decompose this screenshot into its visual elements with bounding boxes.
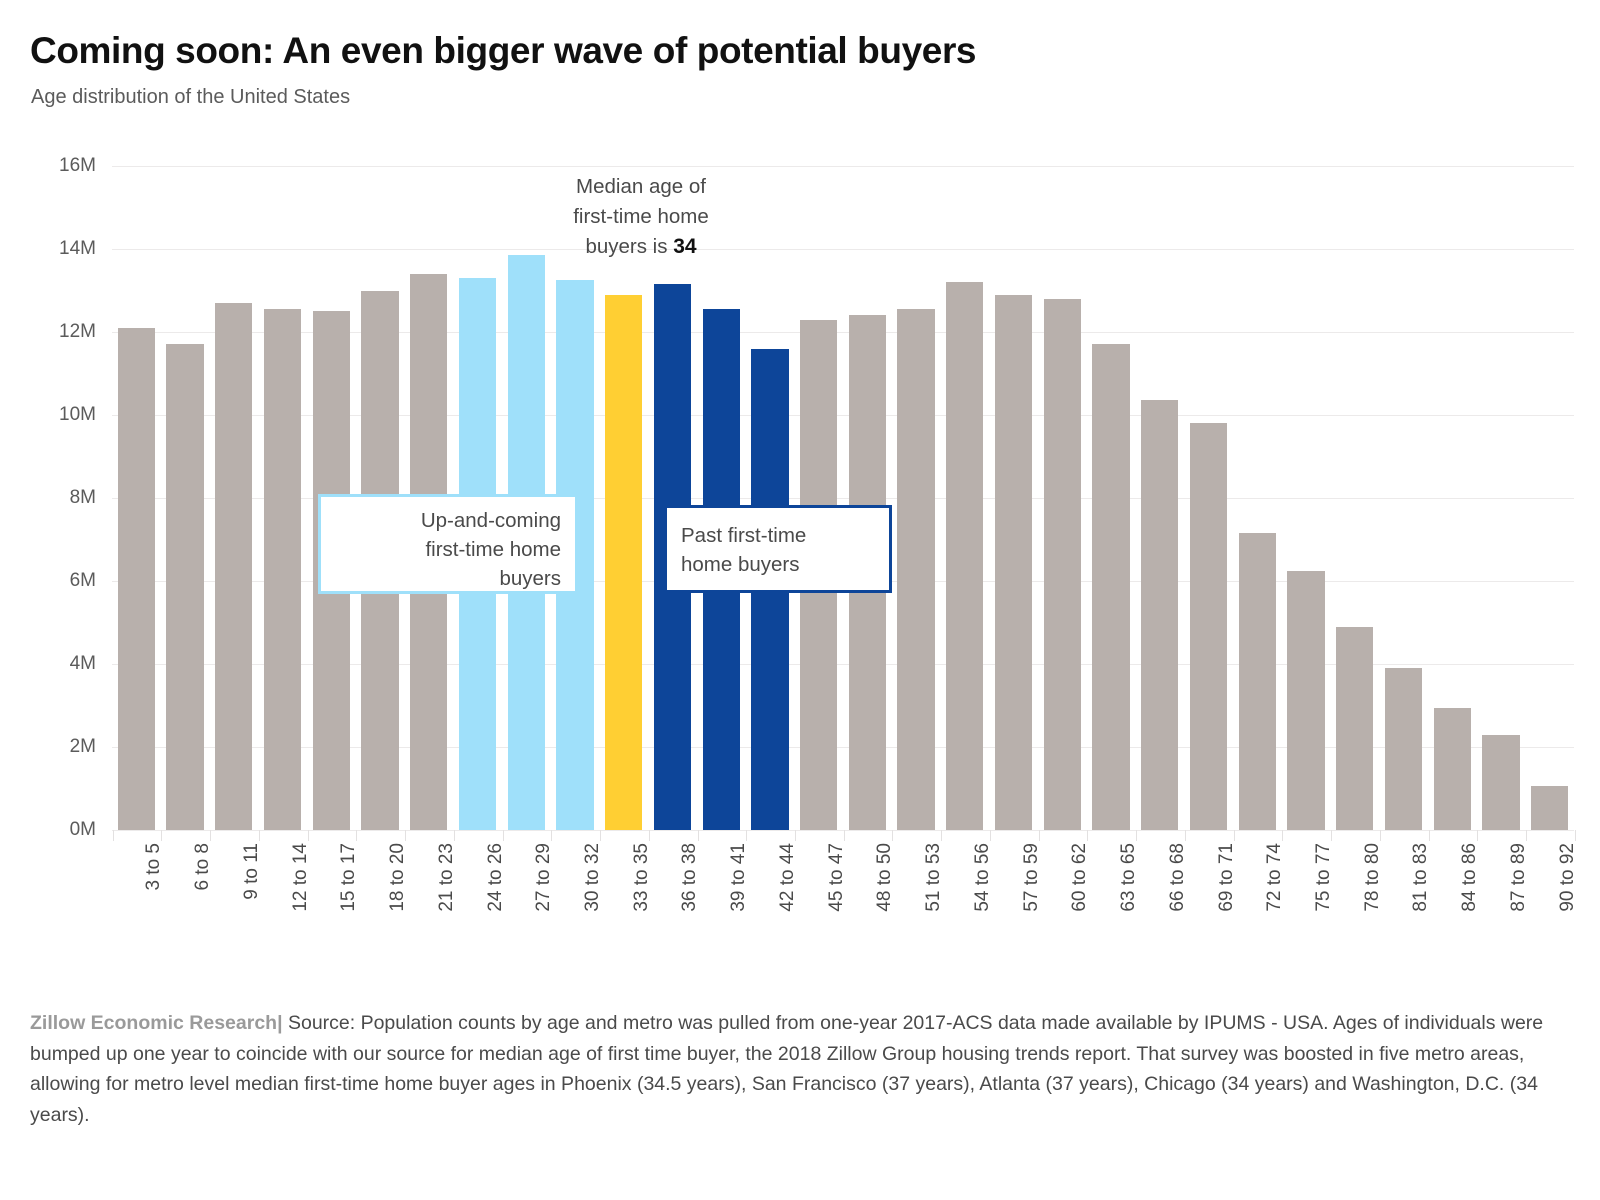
x-axis-tick-label: 57 to 59 <box>1021 843 1043 912</box>
x-axis-tick-label: 6 to 8 <box>192 843 214 891</box>
chart-page: Coming soon: An even bigger wave of pote… <box>0 0 1600 1200</box>
x-axis-tick-label: 18 to 20 <box>387 843 409 912</box>
x-axis-tickmark <box>1526 830 1527 841</box>
source-label: Zillow Economic Research <box>30 1012 277 1034</box>
bar[interactable] <box>1190 423 1227 830</box>
x-axis-tickmark <box>600 830 601 841</box>
gridline <box>112 166 1574 167</box>
x-axis-tick-label: 30 to 32 <box>582 843 604 912</box>
bar[interactable] <box>897 309 934 830</box>
x-axis-tick-label: 75 to 77 <box>1313 843 1335 912</box>
x-axis-tick-label: 72 to 74 <box>1264 843 1286 912</box>
x-axis-tickmark <box>210 830 211 841</box>
bar[interactable] <box>1434 708 1471 830</box>
x-axis-tick-label: 66 to 68 <box>1167 843 1189 912</box>
bar[interactable] <box>1531 786 1568 830</box>
bar[interactable] <box>605 295 642 830</box>
x-axis-tickmark <box>941 830 942 841</box>
x-axis-tickmark <box>1575 830 1576 841</box>
bar[interactable] <box>1239 533 1276 830</box>
y-axis: 0M2M4M6M8M10M12M14M16M <box>14 166 96 830</box>
x-axis-tick-label: 63 to 65 <box>1118 843 1140 912</box>
upcoming-callout-line2: first-time home <box>425 538 561 561</box>
x-axis-tick-label: 90 to 92 <box>1557 843 1579 912</box>
x-axis-tick-label: 45 to 47 <box>826 843 848 912</box>
x-axis-tickmark <box>1087 830 1088 841</box>
x-axis-tickmark <box>1136 830 1137 841</box>
x-axis-tickmark <box>844 830 845 841</box>
x-axis-tick-label: 48 to 50 <box>874 843 896 912</box>
x-axis-tickmark <box>746 830 747 841</box>
median-annotation-line2: first-time home <box>573 205 709 228</box>
upcoming-callout-line1: Up-and-coming <box>421 509 561 532</box>
x-axis-tick-label: 54 to 56 <box>972 843 994 912</box>
x-axis-tickmark <box>1331 830 1332 841</box>
x-axis-tick-label: 9 to 11 <box>241 843 263 900</box>
x-axis-tick-label: 33 to 35 <box>631 843 653 912</box>
bar[interactable] <box>1336 627 1373 830</box>
x-axis-tickmark <box>1477 830 1478 841</box>
x-axis-tick-label: 81 to 83 <box>1410 843 1432 912</box>
upcoming-callout-line3: buyers <box>499 567 561 590</box>
x-axis-tick-label: 87 to 89 <box>1508 843 1530 912</box>
x-axis-tickmark <box>503 830 504 841</box>
x-axis-tick-label: 3 to 5 <box>143 843 165 891</box>
x-axis-tickmark <box>698 830 699 841</box>
x-axis-tickmark <box>795 830 796 841</box>
bar[interactable] <box>166 344 203 830</box>
bar[interactable] <box>995 295 1032 830</box>
x-axis-tickmarks <box>112 830 1574 842</box>
x-axis-tick-label: 60 to 62 <box>1069 843 1091 912</box>
footnote: Zillow Economic Research| Source: Popula… <box>30 1008 1560 1130</box>
y-axis-tick-label: 4M <box>16 653 96 675</box>
y-axis-tick-label: 2M <box>16 736 96 758</box>
median-age-annotation: Median age of first-time home buyers is … <box>534 172 748 262</box>
page-title: Coming soon: An even bigger wave of pote… <box>30 30 976 72</box>
x-axis-tickmark <box>405 830 406 841</box>
y-axis-tick-label: 0M <box>16 819 96 841</box>
median-annotation-line1: Median age of <box>576 175 706 198</box>
bar[interactable] <box>1141 400 1178 830</box>
x-axis-tickmark <box>1185 830 1186 841</box>
gridline <box>112 249 1574 250</box>
x-axis-tick-label: 42 to 44 <box>777 843 799 912</box>
x-axis-labels: 3 to 56 to 89 to 1112 to 1415 to 1718 to… <box>112 843 1574 983</box>
x-axis-tickmark <box>1234 830 1235 841</box>
bar[interactable] <box>1092 344 1129 830</box>
x-axis-tickmark <box>113 830 114 841</box>
y-axis-tick-label: 14M <box>16 238 96 260</box>
bar[interactable] <box>1482 735 1519 830</box>
x-axis-tickmark <box>649 830 650 841</box>
y-axis-tick-label: 8M <box>16 487 96 509</box>
bar[interactable] <box>118 328 155 830</box>
x-axis-tickmark <box>551 830 552 841</box>
x-axis-tick-label: 69 to 71 <box>1216 843 1238 912</box>
x-axis-tickmark <box>259 830 260 841</box>
x-axis-tick-label: 15 to 17 <box>338 843 360 912</box>
y-axis-tick-label: 16M <box>16 155 96 177</box>
y-axis-tick-label: 10M <box>16 404 96 426</box>
past-callout-line2: home buyers <box>681 553 800 576</box>
x-axis-tick-label: 36 to 38 <box>679 843 701 912</box>
x-axis-tick-label: 51 to 53 <box>923 843 945 912</box>
x-axis-tickmark <box>1039 830 1040 841</box>
bar[interactable] <box>946 282 983 830</box>
x-axis-tickmark <box>308 830 309 841</box>
x-axis-tickmark <box>1282 830 1283 841</box>
bar[interactable] <box>1385 668 1422 830</box>
bar[interactable] <box>215 303 252 830</box>
y-axis-tick-label: 12M <box>16 321 96 343</box>
bar[interactable] <box>264 309 301 830</box>
past-callout-line1: Past first-time <box>681 524 806 547</box>
x-axis-tick-label: 27 to 29 <box>533 843 555 912</box>
x-axis-tickmark <box>1429 830 1430 841</box>
x-axis-tick-label: 24 to 26 <box>485 843 507 912</box>
x-axis-tickmark <box>892 830 893 841</box>
x-axis-tickmark <box>454 830 455 841</box>
x-axis-tick-label: 39 to 41 <box>728 843 750 912</box>
bar[interactable] <box>1044 299 1081 830</box>
chart-subtitle: Age distribution of the United States <box>31 86 350 109</box>
x-axis-tickmark <box>990 830 991 841</box>
x-axis-tickmark <box>356 830 357 841</box>
x-axis-tickmark <box>1380 830 1381 841</box>
y-axis-tick-label: 6M <box>16 570 96 592</box>
upcoming-buyers-callout: Up-and-coming first-time home buyers <box>318 494 578 594</box>
x-axis-tick-label: 84 to 86 <box>1459 843 1481 912</box>
past-buyers-callout: Past first-time home buyers <box>664 505 892 593</box>
x-axis-tick-label: 21 to 23 <box>436 843 458 912</box>
bar[interactable] <box>1287 571 1324 830</box>
x-axis-tick-label: 78 to 80 <box>1362 843 1384 912</box>
median-age-value: 34 <box>673 235 696 258</box>
x-axis-tickmark <box>161 830 162 841</box>
x-axis-tick-label: 12 to 14 <box>290 843 312 912</box>
median-annotation-line3-prefix: buyers is <box>585 235 673 258</box>
